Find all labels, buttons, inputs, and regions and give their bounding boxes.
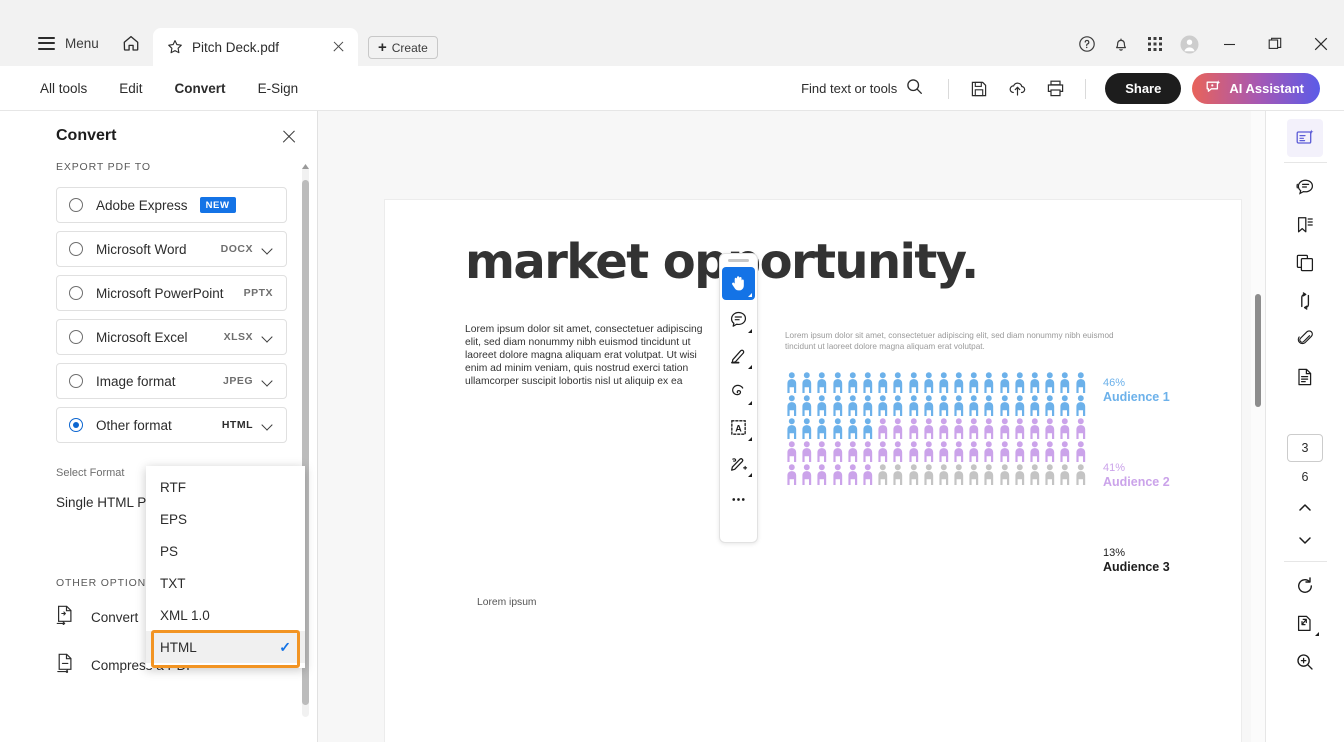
person-icon-audience-3 <box>1028 464 1042 485</box>
ai-assistant-panel-icon[interactable] <box>1287 119 1323 157</box>
toolbar-drag-handle[interactable] <box>728 259 749 262</box>
person-icon-audience-2 <box>1058 418 1072 439</box>
person-icon-audience-1 <box>831 372 845 393</box>
menu-bar: All tools Edit Convert E-Sign Find text … <box>0 66 1344 111</box>
person-icon-audience-3 <box>998 464 1012 485</box>
radio-button[interactable] <box>69 330 83 344</box>
tool-expand-corner <box>748 473 752 477</box>
person-icon-audience-2 <box>922 441 936 462</box>
divider <box>1284 162 1327 163</box>
export-options-list: Adobe Express NEW Microsoft Word DOCX Mi… <box>0 187 318 443</box>
option-label: Adobe Express <box>96 198 188 213</box>
tool-expand-corner <box>748 437 752 441</box>
person-icon-audience-1 <box>891 372 905 393</box>
save-icon[interactable] <box>960 73 998 105</box>
person-icon-audience-2 <box>982 418 996 439</box>
person-icon-audience-2 <box>1058 441 1072 462</box>
person-icon-audience-2 <box>891 441 905 462</box>
person-icon-audience-2 <box>861 441 875 462</box>
more-tools-icon[interactable] <box>722 483 755 516</box>
format-dropdown-menu[interactable]: RTF EPS PS TXT XML 1.0 HTML ✓ <box>146 466 305 668</box>
menu-bar-tabs: All tools Edit Convert E-Sign <box>40 66 314 111</box>
person-icon-audience-2 <box>952 418 966 439</box>
scroll-up-arrow-icon[interactable] <box>301 157 310 164</box>
attachment-icon[interactable] <box>1287 320 1323 358</box>
find-label: Find text or tools <box>801 81 897 96</box>
legend-percent: 41% <box>1103 461 1213 475</box>
menu-label[interactable]: Menu <box>65 36 99 51</box>
fit-page-expand-corner <box>1315 632 1319 636</box>
person-icon-audience-2 <box>861 464 875 485</box>
radio-button[interactable] <box>69 242 83 256</box>
legend-label: Audience 3 <box>1103 560 1213 575</box>
format-tag: HTML <box>222 419 253 431</box>
document-viewport[interactable]: market opportunity. Lorem ipsum dolor si… <box>318 111 1268 742</box>
dropdown-item-xml-1-0[interactable]: XML 1.0 <box>146 599 305 631</box>
document-tab[interactable]: Pitch Deck.pdf <box>153 28 358 66</box>
person-icon-audience-2 <box>1028 441 1042 462</box>
panel-close-icon[interactable] <box>281 128 297 144</box>
person-icon-audience-1 <box>1013 395 1027 416</box>
document-properties-icon[interactable] <box>1287 358 1323 396</box>
person-icon-audience-2 <box>1013 441 1027 462</box>
chevron-down-icon[interactable] <box>262 376 273 387</box>
person-icon-audience-1 <box>876 372 890 393</box>
title-bar-right <box>1070 33 1344 61</box>
tool-expand-corner <box>748 329 752 333</box>
dropdown-item-label: XML 1.0 <box>160 608 210 623</box>
option-label: Microsoft PowerPoint <box>96 286 224 301</box>
export-option-other-format[interactable]: Other format HTML <box>56 407 287 443</box>
person-icon-audience-1 <box>998 395 1012 416</box>
legend-percent: 13% <box>1103 546 1213 560</box>
person-icon-audience-1 <box>937 372 951 393</box>
text-select-tool-icon[interactable]: A <box>722 411 755 444</box>
account-avatar-icon[interactable] <box>1172 27 1206 61</box>
panel-title: Convert <box>56 127 116 145</box>
tool-expand-corner <box>748 401 752 405</box>
comment-tool-icon[interactable] <box>722 303 755 336</box>
compare-icon[interactable] <box>1287 282 1323 320</box>
search-icon[interactable] <box>906 78 923 100</box>
export-option-image-format[interactable]: Image format JPEG <box>56 363 287 399</box>
format-tag: XLSX <box>224 331 253 343</box>
highlight-tool-icon[interactable] <box>722 339 755 372</box>
title-bar-left: Menu <box>38 33 141 53</box>
person-icon-audience-2 <box>937 441 951 462</box>
radio-button[interactable] <box>69 198 83 212</box>
person-icon-audience-1 <box>846 395 860 416</box>
person-icon-audience-1 <box>982 395 996 416</box>
fit-page-icon[interactable] <box>1287 605 1323 643</box>
person-icon-audience-3 <box>982 464 996 485</box>
export-option-microsoft-powerpoint[interactable]: Microsoft PowerPoint PPTX <box>56 275 287 311</box>
dropdown-item-ps[interactable]: PS <box>146 535 305 567</box>
pictogram-row <box>785 418 1195 439</box>
person-icon-audience-3 <box>1058 464 1072 485</box>
person-icon-audience-2 <box>952 441 966 462</box>
title-bar: Menu Pitch Deck.pdf + Create <box>0 0 1344 66</box>
hand-tool-icon[interactable] <box>722 267 755 300</box>
person-icon-audience-2 <box>876 441 890 462</box>
format-tag: JPEG <box>223 375 253 387</box>
dropdown-item-eps[interactable]: EPS <box>146 503 305 535</box>
person-icon-audience-2 <box>815 464 829 485</box>
person-icon-audience-2 <box>846 441 860 462</box>
person-icon-audience-2 <box>876 418 890 439</box>
dropdown-item-txt[interactable]: TXT <box>146 567 305 599</box>
next-page-button[interactable] <box>1287 524 1323 556</box>
window-close-icon[interactable] <box>1298 27 1344 61</box>
option-label: Microsoft Excel <box>96 330 188 345</box>
star-icon[interactable] <box>167 39 183 55</box>
bookmark-panel-icon[interactable] <box>1287 206 1323 244</box>
person-icon-audience-1 <box>800 372 814 393</box>
home-icon[interactable] <box>121 33 141 53</box>
radio-button[interactable] <box>69 374 83 388</box>
convert-panel-header: Convert <box>0 111 317 161</box>
export-section-label: Export PDF to <box>0 161 318 173</box>
rotate-icon[interactable] <box>1287 567 1323 605</box>
chevron-down-icon[interactable] <box>262 244 273 255</box>
document-scrollbar-thumb[interactable] <box>1255 294 1261 407</box>
dropdown-item-rtf[interactable]: RTF <box>146 471 305 503</box>
person-icon-audience-1 <box>952 395 966 416</box>
create-button-label: Create <box>392 41 428 55</box>
total-pages-label: 6 <box>1302 462 1309 492</box>
person-icon-audience-2 <box>785 441 799 462</box>
person-icon-audience-3 <box>891 464 905 485</box>
draw-tool-icon[interactable] <box>722 375 755 408</box>
legend-audience-1: 46% Audience 1 <box>1103 376 1213 405</box>
print-icon[interactable] <box>1036 73 1074 105</box>
person-icon-audience-1 <box>846 418 860 439</box>
person-icon-audience-3 <box>952 464 966 485</box>
person-icon-audience-2 <box>937 418 951 439</box>
person-icon-audience-2 <box>800 441 814 462</box>
person-icon-audience-2 <box>998 418 1012 439</box>
help-icon[interactable] <box>1070 27 1104 61</box>
create-button[interactable]: + Create <box>368 36 438 59</box>
person-icon-audience-2 <box>815 441 829 462</box>
other-option-label: Convert <box>91 610 138 625</box>
person-icon-audience-3 <box>967 464 981 485</box>
page-body-text: Lorem ipsum dolor sit amet, consectetuer… <box>465 323 703 388</box>
dropdown-item-label: TXT <box>160 576 186 591</box>
format-tag: DOCX <box>221 243 253 255</box>
person-icon-audience-1 <box>815 395 829 416</box>
person-icon-audience-1 <box>785 395 799 416</box>
export-option-microsoft-excel[interactable]: Microsoft Excel XLSX <box>56 319 287 355</box>
person-icon-audience-2 <box>1043 441 1057 462</box>
maximize-icon[interactable] <box>1252 27 1298 61</box>
person-icon-audience-2 <box>1074 418 1088 439</box>
person-icon-audience-1 <box>967 395 981 416</box>
person-icon-audience-1 <box>1013 372 1027 393</box>
person-icon-audience-1 <box>891 395 905 416</box>
infographic-caption: Lorem ipsum dolor sit amet, consectetuer… <box>785 330 1140 352</box>
export-option-microsoft-word[interactable]: Microsoft Word DOCX <box>56 231 287 267</box>
cloud-upload-icon[interactable] <box>998 73 1036 105</box>
person-icon-audience-1 <box>1074 372 1088 393</box>
dropdown-item-label: PS <box>160 544 178 559</box>
legend-audience-3: 13% Audience 3 <box>1103 546 1213 575</box>
tab-all-tools[interactable]: All tools <box>40 66 103 111</box>
tab-edit[interactable]: Edit <box>103 66 158 111</box>
tab-convert[interactable]: Convert <box>159 66 242 111</box>
legend-label: Audience 1 <box>1103 390 1213 405</box>
dropdown-item-label: EPS <box>160 512 187 527</box>
person-icon-audience-1 <box>907 395 921 416</box>
checkmark-icon: ✓ <box>279 639 291 656</box>
person-icon-audience-1 <box>800 418 814 439</box>
person-icon-audience-1 <box>861 395 875 416</box>
person-icon-audience-1 <box>1058 372 1072 393</box>
legend-label: Audience 2 <box>1103 475 1213 490</box>
signature-tool-icon[interactable] <box>722 447 755 480</box>
option-label: Image format <box>96 374 176 389</box>
svg-text:A: A <box>735 423 742 433</box>
person-icon-audience-2 <box>1043 418 1057 439</box>
person-icon-audience-2 <box>1013 418 1027 439</box>
tool-expand-corner <box>748 293 752 297</box>
legend-percent: 46% <box>1103 376 1213 390</box>
person-icon-audience-1 <box>1074 395 1088 416</box>
share-button[interactable]: Share <box>1105 73 1181 104</box>
person-icon-audience-2 <box>967 441 981 462</box>
apps-grid-icon[interactable] <box>1138 27 1172 61</box>
legend-audience-2: 41% Audience 2 <box>1103 461 1213 490</box>
person-icon-audience-2 <box>907 441 921 462</box>
person-icon-audience-1 <box>1043 395 1057 416</box>
tab-title: Pitch Deck.pdf <box>192 40 279 55</box>
person-icon-audience-1 <box>831 418 845 439</box>
person-icon-audience-2 <box>1028 418 1042 439</box>
tool-expand-corner <box>748 365 752 369</box>
chevron-down-icon[interactable] <box>262 420 273 431</box>
person-icon-audience-2 <box>982 441 996 462</box>
person-icon-audience-2 <box>831 464 845 485</box>
radio-button[interactable] <box>69 286 83 300</box>
option-label: Other format <box>96 418 172 433</box>
person-icon-audience-2 <box>831 441 845 462</box>
divider <box>948 79 949 99</box>
person-icon-audience-2 <box>891 418 905 439</box>
tab-close-icon[interactable] <box>331 39 346 54</box>
person-icon-audience-3 <box>1013 464 1027 485</box>
ai-sparkle-icon <box>1205 79 1222 99</box>
person-icon-audience-3 <box>922 464 936 485</box>
right-tool-rail: 3 6 <box>1265 111 1344 742</box>
person-icon-audience-3 <box>876 464 890 485</box>
format-tag: PPTX <box>244 287 273 299</box>
infographic: Lorem ipsum dolor sit amet, consectetuer… <box>785 330 1195 487</box>
person-icon-audience-1 <box>861 418 875 439</box>
person-icon-audience-1 <box>861 372 875 393</box>
current-page-input[interactable]: 3 <box>1287 434 1323 462</box>
page-footer-text: Lorem ipsum <box>477 597 537 608</box>
dropdown-item-label: HTML <box>160 640 197 655</box>
compress-file-icon <box>56 653 75 678</box>
bell-icon[interactable] <box>1104 27 1138 61</box>
find-text-or-tools-button[interactable]: Find text or tools <box>801 78 923 100</box>
person-icon-audience-2 <box>967 418 981 439</box>
convert-file-icon <box>56 605 75 630</box>
new-badge: NEW <box>200 197 236 213</box>
chevron-down-icon[interactable] <box>262 332 273 343</box>
hamburger-menu-icon[interactable] <box>38 37 55 50</box>
person-icon-audience-2 <box>922 418 936 439</box>
person-icon-audience-1 <box>922 372 936 393</box>
person-icon-audience-1 <box>982 372 996 393</box>
document-scrollbar[interactable] <box>1251 111 1265 742</box>
dropdown-item-html[interactable]: HTML ✓ <box>146 631 305 663</box>
person-icon-audience-2 <box>1074 441 1088 462</box>
radio-button-selected[interactable] <box>69 418 83 432</box>
person-icon-audience-3 <box>907 464 921 485</box>
person-icon-audience-1 <box>800 395 814 416</box>
person-icon-audience-3 <box>1074 464 1088 485</box>
plus-icon: + <box>378 40 387 55</box>
person-icon-audience-1 <box>998 372 1012 393</box>
person-icon-audience-2 <box>785 464 799 485</box>
person-icon-audience-1 <box>785 372 799 393</box>
divider <box>1284 561 1327 562</box>
divider <box>1085 79 1086 99</box>
person-icon-audience-2 <box>998 441 1012 462</box>
person-icon-audience-1 <box>831 395 845 416</box>
ai-assistant-label: AI Assistant <box>1229 81 1304 96</box>
minimize-icon[interactable] <box>1206 27 1252 61</box>
person-icon-audience-1 <box>1058 395 1072 416</box>
person-icon-audience-3 <box>1043 464 1057 485</box>
pictogram-row <box>785 441 1195 462</box>
person-icon-audience-1 <box>1028 395 1042 416</box>
person-icon-audience-1 <box>907 372 921 393</box>
previous-page-button[interactable] <box>1287 492 1323 524</box>
pdf-page: market opportunity. Lorem ipsum dolor si… <box>385 200 1241 742</box>
tab-e-sign[interactable]: E-Sign <box>242 66 315 111</box>
person-icon-audience-2 <box>907 418 921 439</box>
option-label: Microsoft Word <box>96 242 187 257</box>
person-icon-audience-1 <box>785 418 799 439</box>
person-icon-audience-1 <box>876 395 890 416</box>
person-icon-audience-1 <box>937 395 951 416</box>
adobe-acrobat-window: Menu Pitch Deck.pdf + Create <box>0 0 1344 742</box>
zoom-in-icon[interactable] <box>1287 643 1323 681</box>
comment-panel-icon[interactable] <box>1287 168 1323 206</box>
person-icon-audience-1 <box>922 395 936 416</box>
person-icon-audience-1 <box>846 372 860 393</box>
person-icon-audience-3 <box>937 464 951 485</box>
organize-pages-icon[interactable] <box>1287 244 1323 282</box>
person-icon-audience-1 <box>967 372 981 393</box>
person-icon-audience-1 <box>952 372 966 393</box>
person-icon-audience-1 <box>1028 372 1042 393</box>
person-icon-audience-1 <box>815 372 829 393</box>
annotation-toolbar[interactable]: A <box>719 253 758 543</box>
person-icon-audience-2 <box>846 464 860 485</box>
dropdown-item-label: RTF <box>160 480 186 495</box>
ai-assistant-button[interactable]: AI Assistant <box>1192 73 1320 104</box>
person-icon-audience-1 <box>1043 372 1057 393</box>
person-icon-audience-1 <box>815 418 829 439</box>
export-option-adobe-express[interactable]: Adobe Express NEW <box>56 187 287 223</box>
person-icon-audience-2 <box>800 464 814 485</box>
menu-bar-right: Find text or tools Share AI Ass <box>801 66 1320 111</box>
